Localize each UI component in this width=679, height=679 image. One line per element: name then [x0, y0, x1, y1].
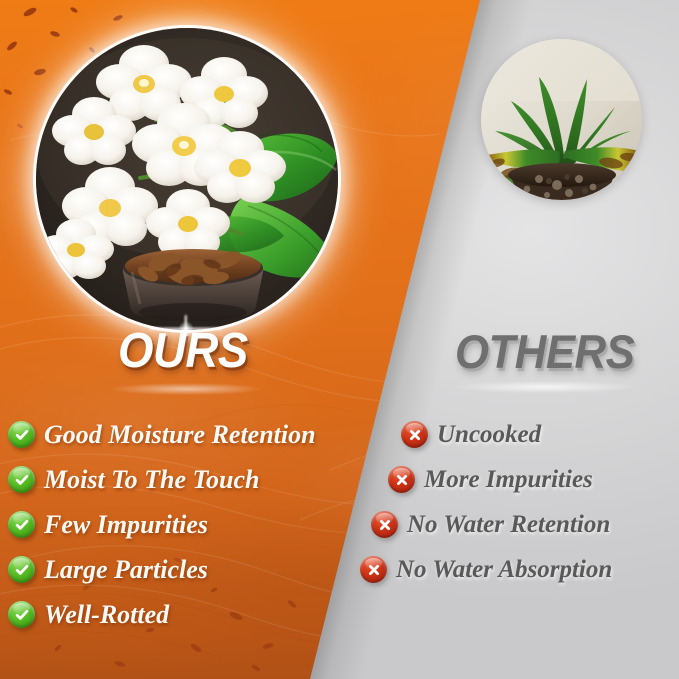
- ours-product-photo: [36, 28, 338, 330]
- ours-feature-list: Good Moisture Retention Moist To The Tou…: [8, 412, 316, 637]
- list-item-label: Good Moisture Retention: [44, 422, 316, 448]
- green-check-icon: [8, 421, 35, 448]
- list-item-label: Well-Rotted: [44, 602, 169, 628]
- list-item: Uncooked: [401, 412, 612, 457]
- ours-heading: OURS: [118, 327, 248, 376]
- red-cross-icon: [371, 511, 398, 538]
- list-item: Large Particles: [8, 547, 316, 592]
- red-cross-icon: [401, 421, 428, 448]
- list-item-label: Moist To The Touch: [44, 467, 260, 493]
- list-item: Well-Rotted: [8, 592, 316, 637]
- others-heading: OTHERS: [455, 328, 634, 375]
- others-feature-list: Uncooked More Impurities No Water Retent…: [360, 412, 612, 592]
- list-item: No Water Retention: [371, 502, 612, 547]
- green-check-icon: [8, 511, 35, 538]
- list-item: More Impurities: [388, 457, 612, 502]
- list-item-label: Few Impurities: [44, 512, 208, 538]
- list-item-label: No Water Retention: [407, 512, 610, 537]
- red-cross-icon: [388, 466, 415, 493]
- red-cross-icon: [360, 556, 387, 583]
- green-check-icon: [8, 556, 35, 583]
- others-product-photo: [481, 39, 642, 200]
- list-item: No Water Absorption: [360, 547, 612, 592]
- list-item-label: Uncooked: [437, 422, 541, 447]
- list-item: Good Moisture Retention: [8, 412, 316, 457]
- comparison-infographic: OURS OTHERS Good Moisture Retention Mois…: [0, 0, 679, 679]
- list-item: Moist To The Touch: [8, 457, 316, 502]
- list-item-label: No Water Absorption: [396, 557, 612, 582]
- list-item-label: More Impurities: [424, 467, 593, 492]
- green-check-icon: [8, 466, 35, 493]
- green-check-icon: [8, 601, 35, 628]
- list-item: Few Impurities: [8, 502, 316, 547]
- list-item-label: Large Particles: [44, 557, 208, 583]
